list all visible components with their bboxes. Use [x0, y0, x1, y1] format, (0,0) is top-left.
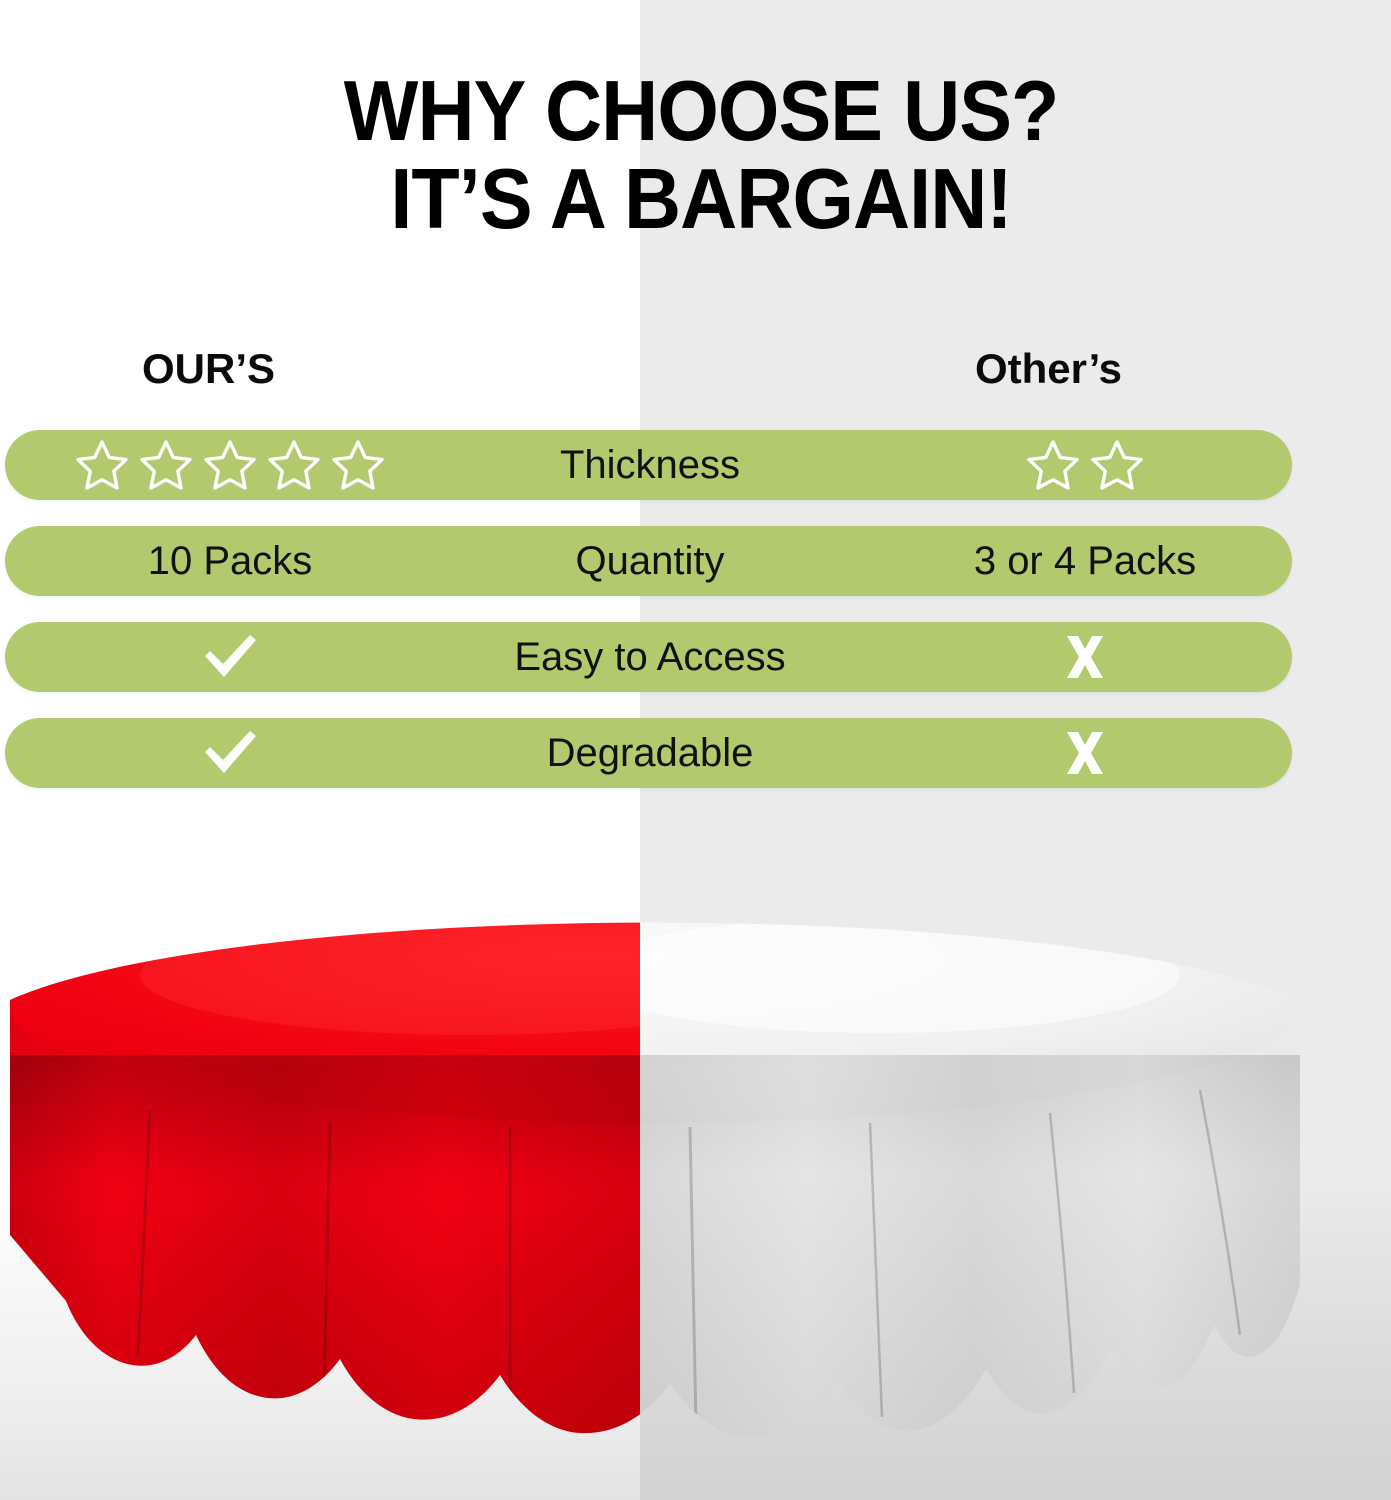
cell-feature-label: Easy to Access [425, 622, 875, 692]
feature-label: Degradable [547, 731, 754, 776]
cell-ours [35, 622, 425, 692]
column-headers: OUR’S Other’s [0, 345, 1391, 405]
headline-line-1: WHY CHOOSE US? [49, 68, 1343, 156]
star-outline-icon [138, 438, 194, 492]
star-outline-icon [266, 438, 322, 492]
star-outline-icon [74, 438, 130, 492]
cell-others [885, 622, 1285, 692]
product-image-tablecloth [0, 855, 1391, 1500]
star-outline-icon [202, 438, 258, 492]
comparison-table: Thickness10 PacksQuantity3 or 4 PacksEas… [0, 430, 1391, 814]
comparison-row: Degradable [5, 718, 1292, 788]
feature-label: Thickness [560, 443, 740, 488]
feature-label: Quantity [576, 539, 725, 584]
star-outline-icon [1025, 438, 1081, 492]
cell-ours: 10 Packs [35, 526, 425, 596]
headline: WHY CHOOSE US? IT’S A BARGAIN! [49, 68, 1343, 243]
cell-others [885, 718, 1285, 788]
feature-label: Easy to Access [514, 635, 785, 680]
cell-ours [35, 430, 425, 500]
comparison-row: Thickness [5, 430, 1292, 500]
cell-feature-label: Quantity [425, 526, 875, 596]
star-outline-icon [1089, 438, 1145, 492]
comparison-row: Easy to Access [5, 622, 1292, 692]
cell-feature-label: Degradable [425, 718, 875, 788]
column-header-others: Other’s [975, 345, 1122, 393]
star-rating-others [1025, 438, 1145, 492]
cell-others: 3 or 4 Packs [885, 526, 1285, 596]
cell-ours [35, 718, 425, 788]
cell-feature-label: Thickness [425, 430, 875, 500]
value-ours: 10 Packs [148, 539, 313, 584]
check-icon [199, 629, 261, 685]
star-outline-icon [330, 438, 386, 492]
cross-icon [1058, 630, 1112, 684]
check-icon [199, 725, 261, 781]
comparison-row: 10 PacksQuantity3 or 4 Packs [5, 526, 1292, 596]
star-rating-ours [74, 438, 386, 492]
headline-line-2: IT’S A BARGAIN! [49, 156, 1343, 244]
column-header-ours: OUR’S [142, 345, 275, 393]
cell-others [885, 430, 1285, 500]
cross-icon [1058, 726, 1112, 780]
value-others: 3 or 4 Packs [974, 539, 1196, 584]
infographic-canvas: WHY CHOOSE US? IT’S A BARGAIN! OUR’S Oth… [0, 0, 1391, 1500]
